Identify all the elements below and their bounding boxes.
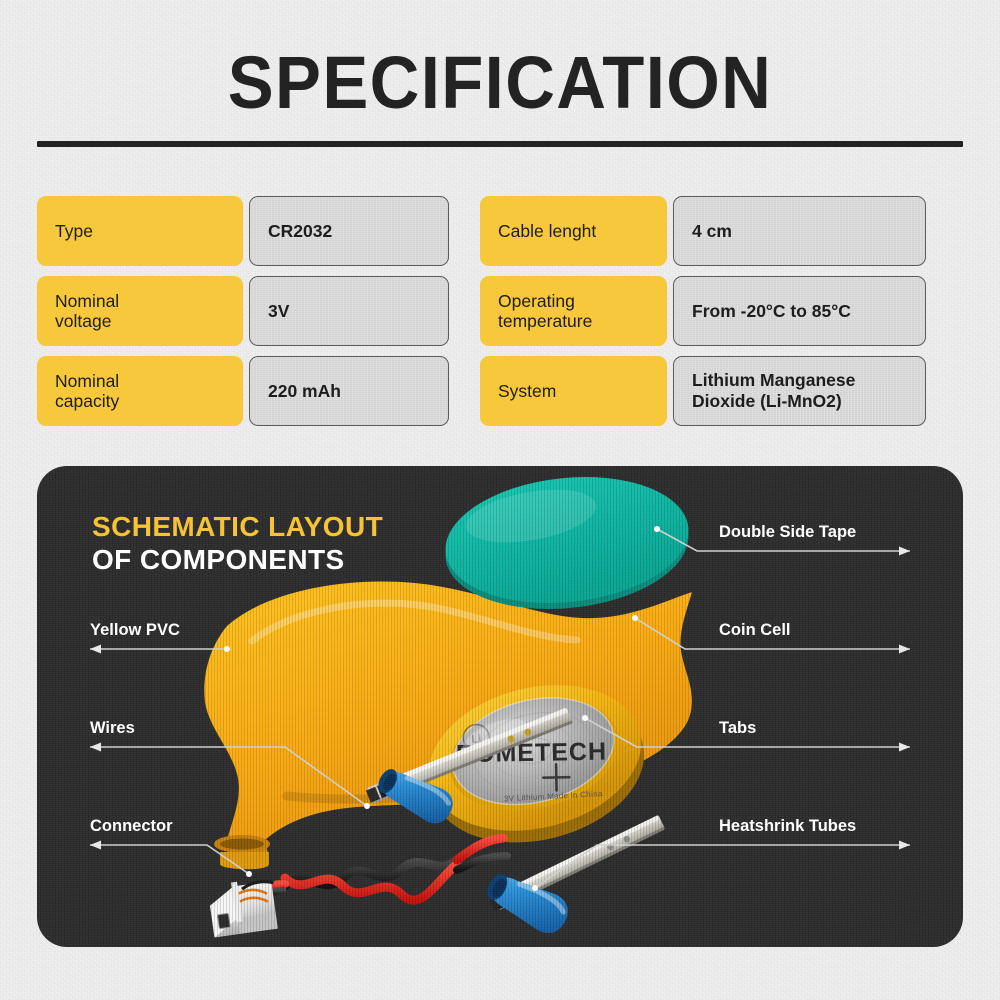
- schematic-panel: ROMETECH 3V Lithium Made in China Li: [37, 466, 963, 947]
- spec-row: Operating temperature From -20°C to 85°C: [480, 276, 926, 346]
- spec-value-text: From -20°C to 85°C: [692, 301, 851, 322]
- spec-row: Nominal voltage 3V: [37, 276, 483, 346]
- spec-label: Cable lenght: [480, 196, 667, 266]
- title-divider: [37, 141, 963, 147]
- spec-value: 4 cm: [673, 196, 926, 266]
- page-title: SPECIFICATION: [35, 46, 965, 120]
- leader-line-heatshrink-tubes: [37, 466, 963, 947]
- spec-row: Type CR2032: [37, 196, 483, 266]
- spec-value-text: 4 cm: [692, 221, 732, 242]
- spec-label: System: [480, 356, 667, 426]
- spec-value-text: 220 mAh: [268, 381, 341, 402]
- spec-value: 3V: [249, 276, 449, 346]
- spec-label: Type: [37, 196, 243, 266]
- spec-row: Cable lenght 4 cm: [480, 196, 926, 266]
- spec-value: From -20°C to 85°C: [673, 276, 926, 346]
- spec-value: Lithium Manganese Dioxide (Li-MnO2): [673, 356, 926, 426]
- spec-row: System Lithium Manganese Dioxide (Li-MnO…: [480, 356, 926, 426]
- spec-value: 220 mAh: [249, 356, 449, 426]
- spec-value-text: Lithium Manganese Dioxide (Li-MnO2): [692, 370, 855, 412]
- spec-label: Operating temperature: [480, 276, 667, 346]
- spec-value: CR2032: [249, 196, 449, 266]
- spec-value-text: CR2032: [268, 221, 332, 242]
- spec-row: Nominal capacity 220 mAh: [37, 356, 483, 426]
- spec-value-text: 3V: [268, 301, 289, 322]
- spec-label: Nominal capacity: [37, 356, 243, 426]
- spec-label: Nominal voltage: [37, 276, 243, 346]
